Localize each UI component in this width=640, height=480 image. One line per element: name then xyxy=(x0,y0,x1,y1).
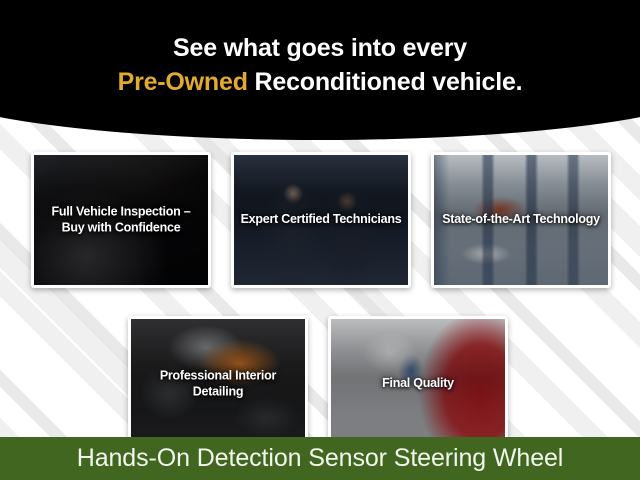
card-label-line-2: Buy with Confidence xyxy=(62,220,181,234)
feature-card-professional-interior-detailing[interactable]: Professional Interior Detailing xyxy=(128,316,308,452)
card-label: Professional Interior Detailing xyxy=(131,368,305,399)
banner-header: See what goes into every Pre-Owned Recon… xyxy=(0,0,640,140)
card-label: Full Vehicle Inspection – Buy with Confi… xyxy=(34,204,208,235)
card-label: Expert Certified Technicians xyxy=(234,212,408,228)
headline-line-1: See what goes into every xyxy=(173,34,467,64)
feature-card-final-quality[interactable]: Final Quality xyxy=(328,316,508,452)
caption-bar: Hands-On Detection Sensor Steering Wheel xyxy=(0,437,640,480)
feature-card-full-vehicle-inspection[interactable]: Full Vehicle Inspection – Buy with Confi… xyxy=(31,152,211,288)
headline-accent-pre-owned: Pre-Owned xyxy=(118,68,248,96)
feature-card-state-of-the-art-technology[interactable]: State-of-the-Art Technology xyxy=(431,152,611,288)
card-label: State-of-the-Art Technology xyxy=(434,212,608,228)
card-label-line-1: State-of-the-Art Technology xyxy=(442,212,600,226)
headline-line-2-rest: Reconditioned vehicle. xyxy=(248,68,523,96)
card-label-line-1: Expert Certified Technicians xyxy=(241,212,402,226)
card-label-line-1: Professional Interior xyxy=(160,368,276,382)
caption-text: Hands-On Detection Sensor Steering Wheel xyxy=(77,444,564,473)
card-label-line-1: Full Vehicle Inspection – xyxy=(52,204,191,218)
card-label-line-1: Final Quality xyxy=(382,376,454,390)
vehicle-reconditioning-banner: See what goes into every Pre-Owned Recon… xyxy=(0,0,640,480)
card-label: Final Quality xyxy=(331,376,505,392)
card-label-line-2: Detailing xyxy=(193,384,244,398)
feature-card-expert-certified-technicians[interactable]: Expert Certified Technicians xyxy=(231,152,411,288)
headline-line-2: Pre-Owned Reconditioned vehicle. xyxy=(118,68,523,98)
